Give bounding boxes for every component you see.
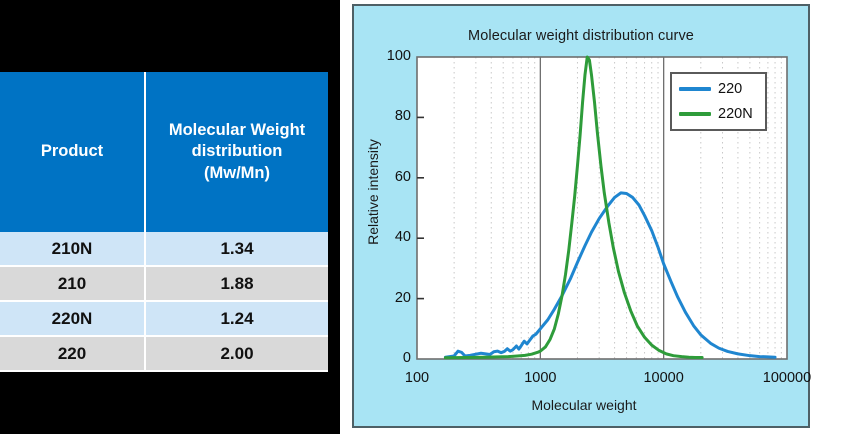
legend-item-220: 220 (679, 80, 742, 98)
y-axis-tick-label: 40 (369, 229, 411, 245)
column-header-mwd-line2: distribution (192, 142, 283, 160)
x-axis-tick-label: 100000 (742, 370, 832, 386)
x-axis-title: Molecular weight (394, 397, 774, 413)
table-row: 220N 1.24 (0, 301, 328, 336)
cell-product: 220N (0, 301, 145, 336)
legend-swatch-220n (679, 112, 711, 116)
x-axis-tick-label: 100 (372, 370, 462, 386)
table-header-row: Product Molecular Weight distribution (M… (0, 72, 328, 232)
product-table-panel: Product Molecular Weight distribution (M… (0, 0, 340, 434)
table-head: Product Molecular Weight distribution (M… (0, 72, 328, 232)
product-table: Product Molecular Weight distribution (M… (0, 72, 328, 372)
cell-product: 220 (0, 336, 145, 371)
chart-panel: Molecular weight distribution curve Rela… (352, 4, 810, 428)
y-axis-tick-label: 80 (369, 108, 411, 124)
column-header-mwd: Molecular Weight distribution (Mw/Mn) (145, 72, 328, 232)
plot-wrapper: Relative intensity Molecular weight 0204… (354, 6, 808, 426)
screenshot-root: Product Molecular Weight distribution (M… (0, 0, 843, 434)
cell-product: 210 (0, 266, 145, 301)
y-axis-tick-label: 20 (369, 290, 411, 306)
y-axis-tick-label: 100 (369, 48, 411, 64)
x-axis-tick-label: 1000 (495, 370, 585, 386)
plot-svg (354, 6, 808, 426)
cell-mwd: 1.24 (145, 301, 328, 336)
x-axis-tick-label: 10000 (619, 370, 709, 386)
legend-label-220: 220 (718, 81, 742, 97)
cell-mwd: 1.34 (145, 232, 328, 266)
column-header-product: Product (0, 72, 145, 232)
cell-product: 210N (0, 232, 145, 266)
legend-label-220n: 220N (718, 106, 753, 122)
column-header-mwd-line3: (Mw/Mn) (204, 164, 270, 182)
column-header-mwd-line1: Molecular Weight (169, 121, 305, 139)
y-axis-tick-label: 0 (369, 350, 411, 366)
table-row: 220 2.00 (0, 336, 328, 371)
table-row: 210 1.88 (0, 266, 328, 301)
cell-mwd: 2.00 (145, 336, 328, 371)
legend-item-220n: 220N (679, 105, 753, 123)
y-axis-tick-label: 60 (369, 169, 411, 185)
cell-mwd: 1.88 (145, 266, 328, 301)
legend-swatch-220 (679, 87, 711, 91)
chart-legend: 220 220N (670, 72, 767, 131)
table-body: 210N 1.34 210 1.88 220N 1.24 220 2.00 (0, 232, 328, 371)
table-row: 210N 1.34 (0, 232, 328, 266)
